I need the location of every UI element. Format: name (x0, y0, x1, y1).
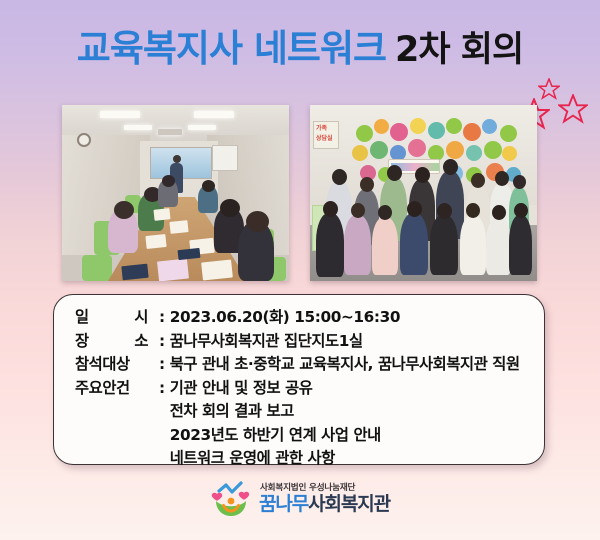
event-info-box: 일 시 : 2023.06.20(화) 15:00~16:30 장 소 : 꿈나… (53, 294, 545, 465)
info-value-location: 꿈나무사회복지관 집단지도1실 (170, 330, 363, 354)
info-label: 주요안건 (75, 377, 159, 401)
info-separator: : (159, 306, 165, 330)
info-value-date: 2023.06.20(화) 15:00~16:30 (170, 306, 400, 330)
info-value-agenda-3: 2023년도 하반기 연계 사업 안내 (170, 424, 381, 448)
organization-logo: 사회복지법인 우성나눔재단 꿈나무사회복지관 (0, 480, 600, 518)
logo-name-rest: 사회복지관 (308, 493, 390, 515)
info-value-agenda-4: 네트워크 운영에 관한 사항 (170, 447, 335, 471)
star-icon (538, 78, 560, 100)
info-row-agenda: 주요안건 : 기관 안내 및 정보 공유 (75, 377, 544, 401)
info-row-agenda-3: : 2023년도 하반기 연계 사업 안내 (75, 424, 544, 448)
info-label: 장 소 (75, 330, 159, 354)
logo-foundation-name: 사회복지법인 우성나눔재단 (259, 484, 390, 493)
page-title: 교육복지사 네트워크2차 회의 (0, 30, 600, 68)
info-row-attendees: 참석대상 : 북구 관내 초·중학교 교육복지사, 꿈나무사회복지관 직원 (75, 353, 544, 377)
info-label: 참석대상 (75, 353, 159, 377)
info-separator: : (159, 377, 165, 401)
info-row-date: 일 시 : 2023.06.20(화) 15:00~16:30 (75, 306, 544, 330)
logo-name-highlight: 꿈나무 (259, 493, 308, 515)
info-value-attendees: 북구 관내 초·중학교 교육복지사, 꿈나무사회복지관 직원 (170, 353, 520, 377)
group-photo: 가족상담실 (310, 105, 537, 281)
info-value-agenda-1: 기관 안내 및 정보 공유 (170, 377, 313, 401)
info-separator: : (159, 330, 165, 354)
info-label: 일 시 (75, 306, 159, 330)
info-value-agenda-2: 전차 회의 결과 보고 (170, 400, 294, 424)
page-title-suffix: 2차 회의 (395, 33, 523, 68)
info-separator: : (159, 353, 165, 377)
info-row-agenda-2: : 전차 회의 결과 보고 (75, 400, 544, 424)
meeting-room-photo (62, 105, 289, 281)
dreamtree-logo-icon (210, 480, 252, 518)
photo-strip: 가족상담실 (0, 105, 600, 281)
info-row-location: 장 소 : 꿈나무사회복지관 집단지도1실 (75, 330, 544, 354)
info-row-agenda-4: : 네트워크 운영에 관한 사항 (75, 447, 544, 471)
page-title-highlight: 교육복지사 네트워크 (77, 30, 386, 67)
logo-center-name: 꿈나무사회복지관 (259, 495, 390, 514)
